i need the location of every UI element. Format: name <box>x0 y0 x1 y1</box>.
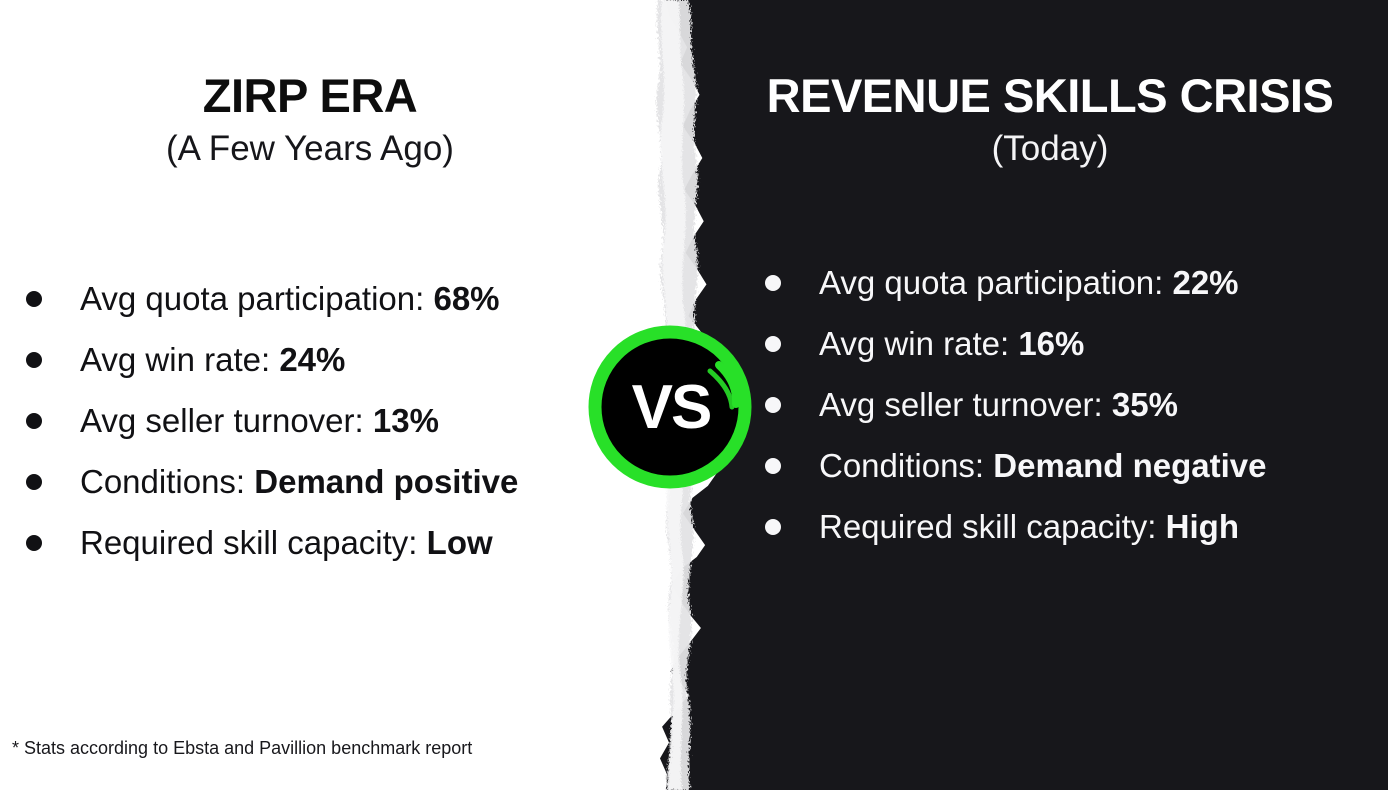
stat-label: Avg seller turnover: <box>80 402 373 439</box>
bullet-dot-icon <box>765 275 781 291</box>
stat-label: Avg quota participation: <box>80 280 433 317</box>
list-item: Required skill capacity: High <box>747 496 1267 557</box>
stat-label: Conditions: <box>80 463 254 500</box>
list-item: Required skill capacity: Low <box>8 512 518 573</box>
stat-value: 13% <box>373 402 439 439</box>
bullet-dot-icon <box>765 336 781 352</box>
list-item: Avg seller turnover: 13% <box>8 390 518 451</box>
stat-label: Avg win rate: <box>819 325 1018 362</box>
right-panel-subtitle: (Today) <box>720 131 1380 166</box>
stat-label: Avg win rate: <box>80 341 279 378</box>
source-footnote: * Stats according to Ebsta and Pavillion… <box>12 738 472 759</box>
stat-value: Demand positive <box>254 463 518 500</box>
stat-value: High <box>1166 508 1239 545</box>
list-item: Conditions: Demand negative <box>747 435 1267 496</box>
stat-value: Low <box>427 524 493 561</box>
left-panel-subtitle: (A Few Years Ago) <box>0 131 620 166</box>
list-item: Avg win rate: 16% <box>747 313 1267 374</box>
stat-label: Required skill capacity: <box>80 524 427 561</box>
bullet-dot-icon <box>26 535 42 551</box>
stat-label: Conditions: <box>819 447 993 484</box>
bullet-dot-icon <box>765 519 781 535</box>
bullet-dot-icon <box>26 474 42 490</box>
bullet-dot-icon <box>765 397 781 413</box>
revenue-skills-crisis-stat-list: Avg quota participation: 22% Avg win rat… <box>747 252 1267 557</box>
vs-badge: VS <box>586 323 754 491</box>
right-panel-title: REVENUE SKILLS CRISIS <box>720 72 1380 119</box>
list-item: Avg quota participation: 68% <box>8 268 518 329</box>
list-item: Avg quota participation: 22% <box>747 252 1267 313</box>
bullet-dot-icon <box>26 352 42 368</box>
bullet-dot-icon <box>26 413 42 429</box>
stat-value: Demand negative <box>993 447 1266 484</box>
stat-value: 16% <box>1018 325 1084 362</box>
comparison-slide: ZIRP ERA (A Few Years Ago) REVENUE SKILL… <box>0 0 1388 790</box>
stat-label: Required skill capacity: <box>819 508 1166 545</box>
vs-badge-label: VS <box>586 323 754 491</box>
left-panel-title: ZIRP ERA <box>0 72 620 119</box>
list-item: Avg seller turnover: 35% <box>747 374 1267 435</box>
stat-value: 68% <box>433 280 499 317</box>
stat-value: 22% <box>1172 264 1238 301</box>
stat-label: Avg seller turnover: <box>819 386 1112 423</box>
bullet-dot-icon <box>765 458 781 474</box>
stat-value: 35% <box>1112 386 1178 423</box>
list-item: Conditions: Demand positive <box>8 451 518 512</box>
stat-label: Avg quota participation: <box>819 264 1172 301</box>
stat-value: 24% <box>279 341 345 378</box>
list-item: Avg win rate: 24% <box>8 329 518 390</box>
zirp-era-stat-list: Avg quota participation: 68% Avg win rat… <box>8 268 518 573</box>
bullet-dot-icon <box>26 291 42 307</box>
